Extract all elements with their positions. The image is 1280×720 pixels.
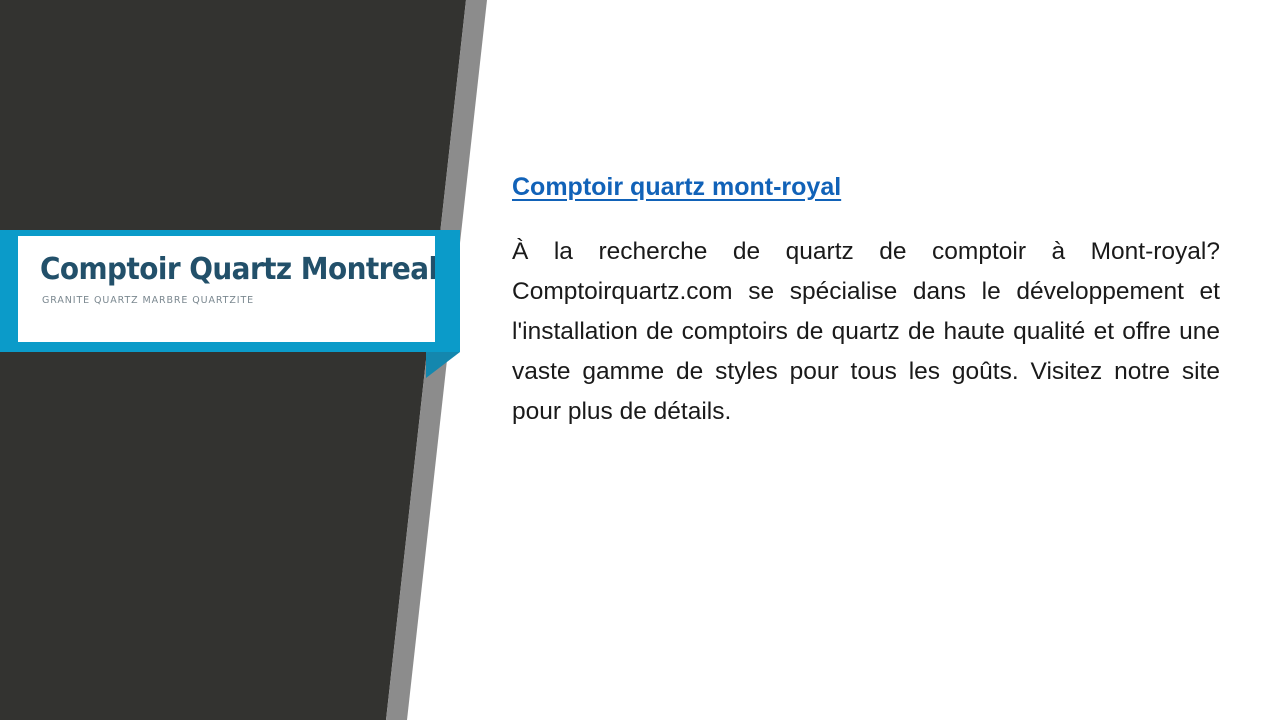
left-dark-panel — [0, 0, 500, 720]
content-column: Comptoir quartz mont-royal À la recherch… — [512, 172, 1220, 432]
logo-title: Comptoir Quartz Montreal Laval — [40, 252, 435, 287]
body-paragraph: À la recherche de quartz de comptoir à M… — [512, 232, 1220, 432]
logo-subtitle: GRANITE QUARTZ MARBRE QUARTZITE — [42, 295, 254, 306]
slide-canvas: Comptoir Quartz Montreal Laval GRANITE Q… — [0, 0, 1280, 720]
headline-link[interactable]: Comptoir quartz mont-royal — [512, 172, 841, 202]
logo-image: Comptoir Quartz Montreal Laval GRANITE Q… — [18, 236, 435, 342]
